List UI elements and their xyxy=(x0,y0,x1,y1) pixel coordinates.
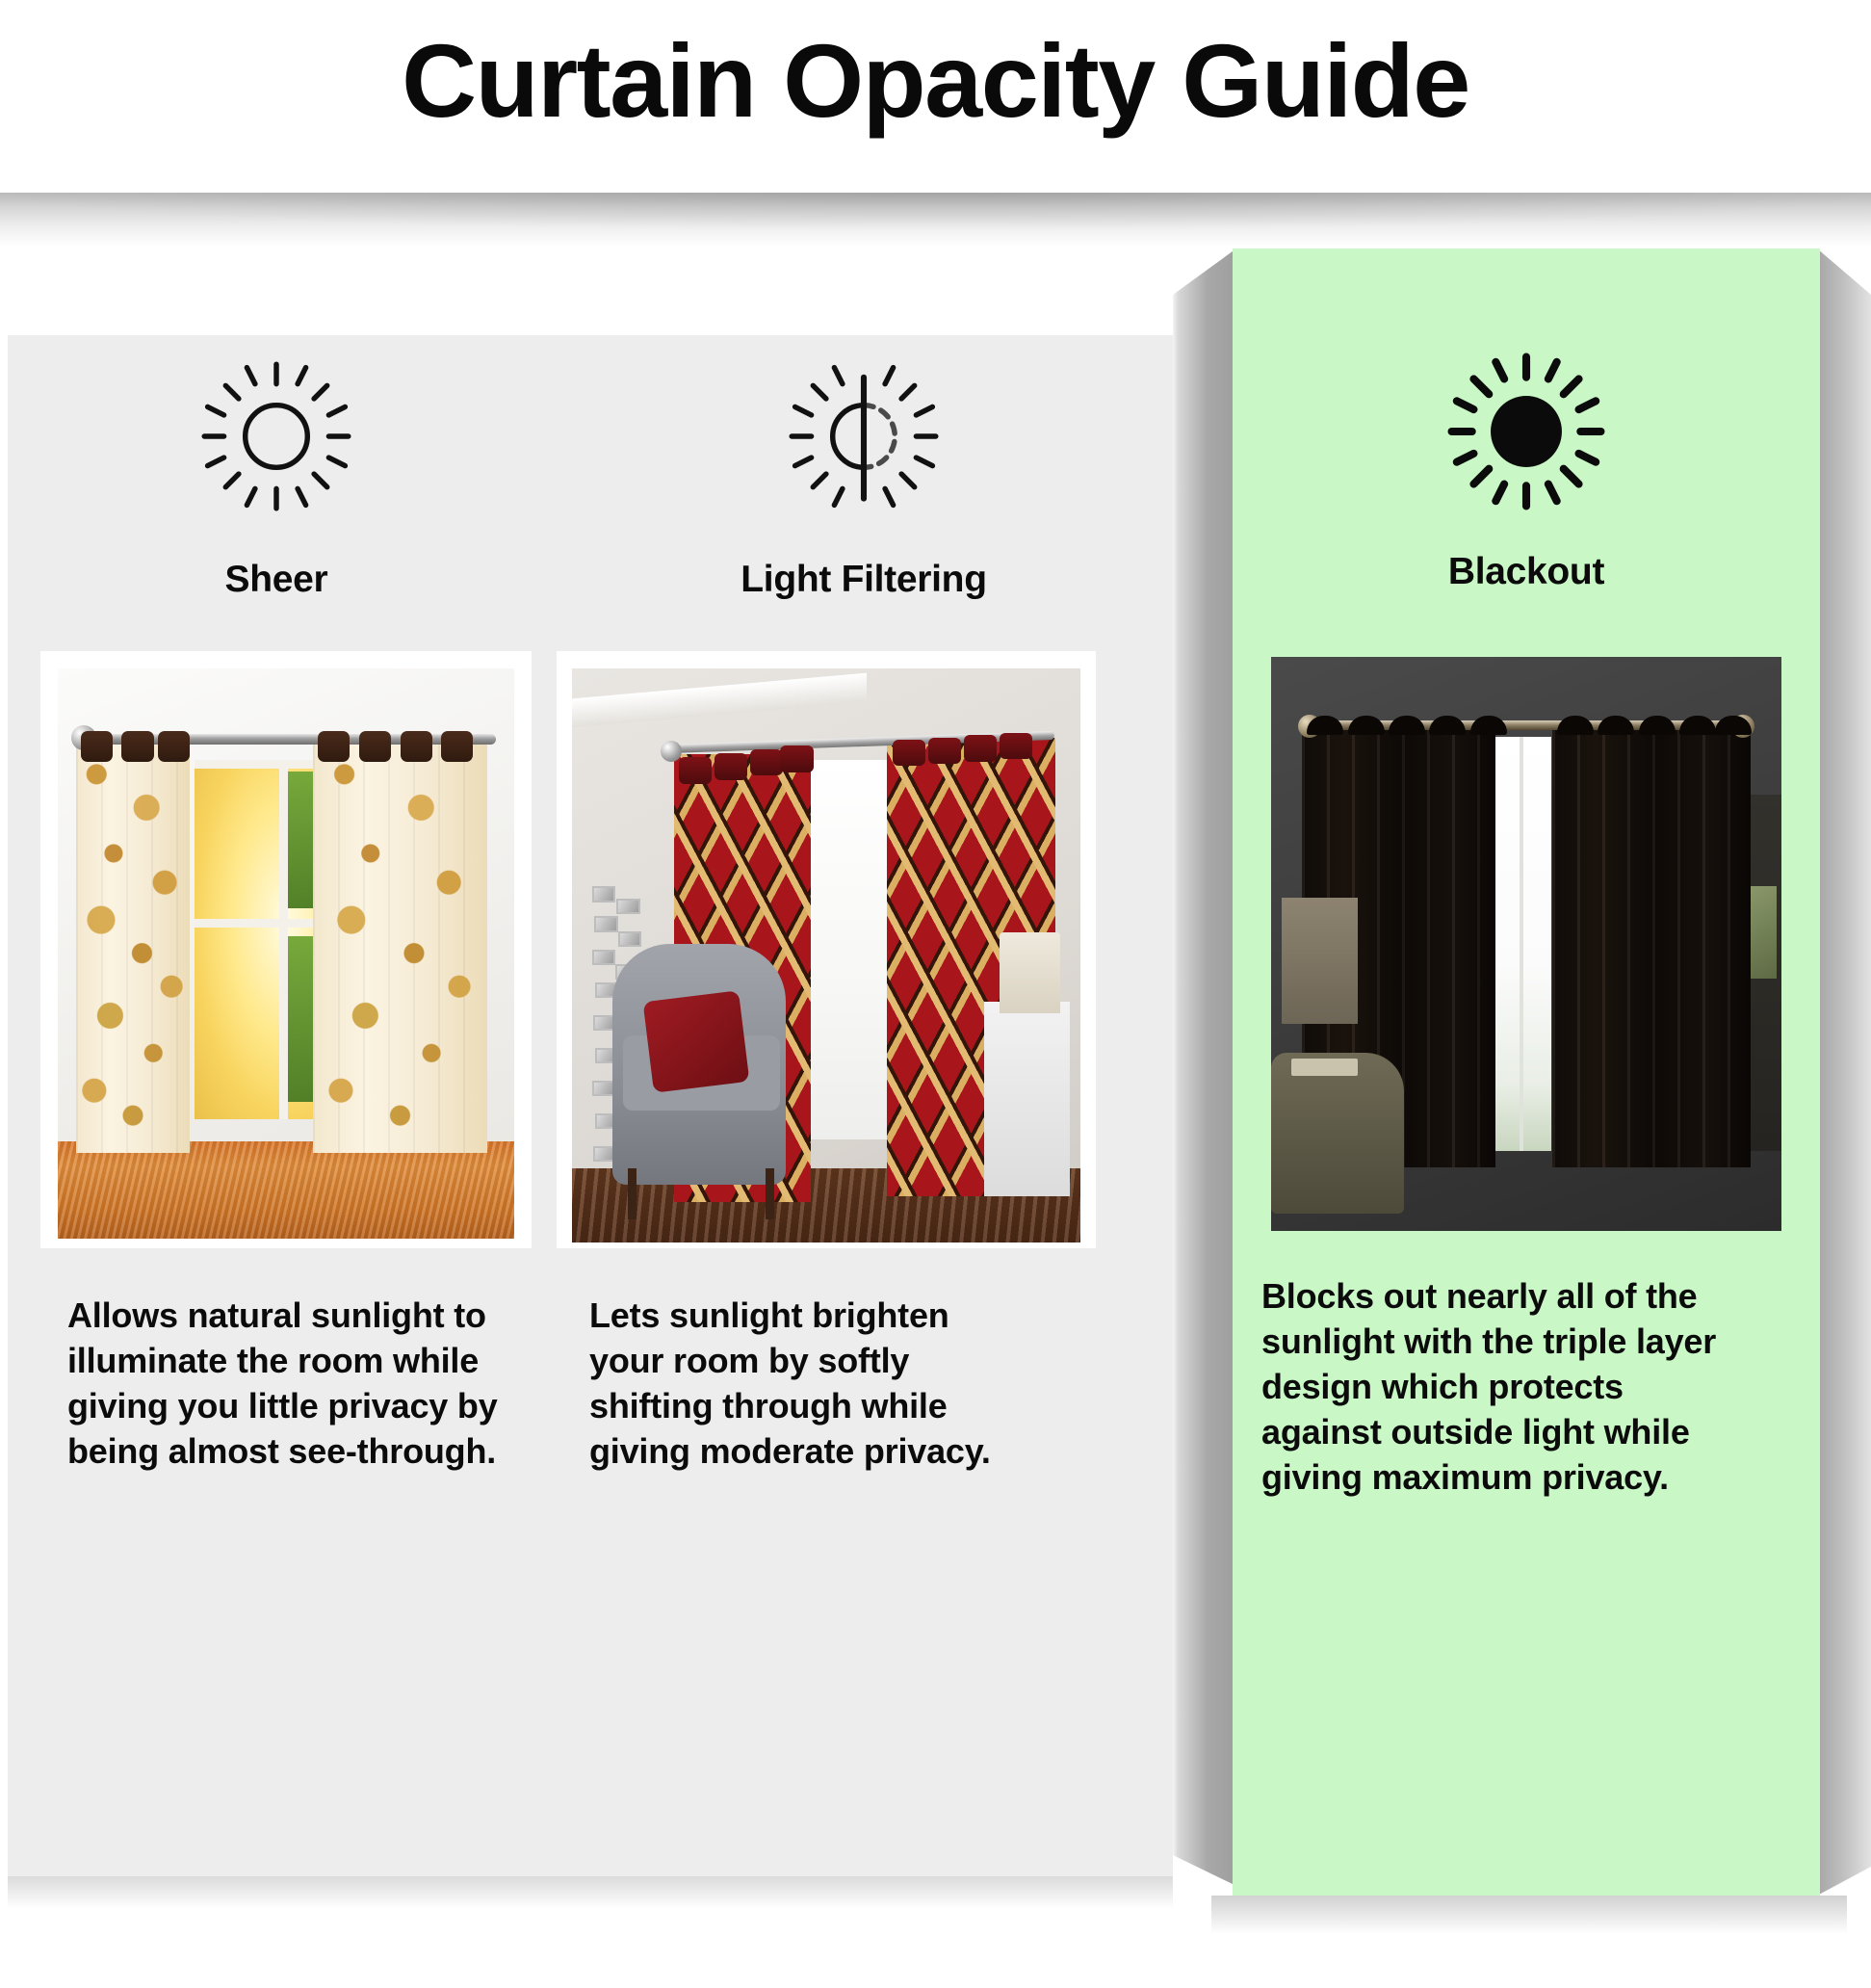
page-title: Curtain Opacity Guide xyxy=(0,21,1871,141)
blackout-curtain-photo xyxy=(1271,657,1781,1231)
column-description-light-filtering: Lets sunlight brighten your room by soft… xyxy=(589,1293,1032,1474)
column-light-filtering[interactable]: Light Filtering xyxy=(555,354,1173,1474)
header-bar: Curtain Opacity Guide xyxy=(0,0,1871,193)
photo-card-sheer xyxy=(40,651,532,1248)
standard-panel-shadow xyxy=(8,1876,1173,1909)
sun-outline-icon xyxy=(8,354,545,537)
infographic-root: Curtain Opacity Guide xyxy=(0,0,1871,1988)
sun-filled-icon xyxy=(1233,347,1820,530)
sheer-curtain-photo xyxy=(58,668,514,1239)
column-label-light-filtering: Light Filtering xyxy=(555,559,1173,601)
column-description-sheer: Allows natural sunlight to illuminate th… xyxy=(67,1293,520,1474)
photo-card-blackout xyxy=(1258,643,1793,1239)
panel-bevel-right xyxy=(1817,248,1871,1926)
column-label-blackout: Blackout xyxy=(1233,551,1820,593)
column-description-blackout: Blocks out nearly all of the sunlight wi… xyxy=(1261,1273,1724,1500)
panel-bevel-left xyxy=(1173,248,1236,1905)
highlight-panel-shadow xyxy=(1211,1896,1847,1934)
header-drop-shadow xyxy=(0,193,1871,247)
column-sheer[interactable]: Sheer xyxy=(8,354,545,1474)
photo-card-light-filtering xyxy=(557,651,1096,1248)
column-blackout[interactable]: Blackout xyxy=(1233,347,1820,1500)
light-filtering-curtain-photo xyxy=(572,668,1080,1242)
column-label-sheer: Sheer xyxy=(8,559,545,601)
sun-half-dashed-icon xyxy=(555,354,1173,537)
